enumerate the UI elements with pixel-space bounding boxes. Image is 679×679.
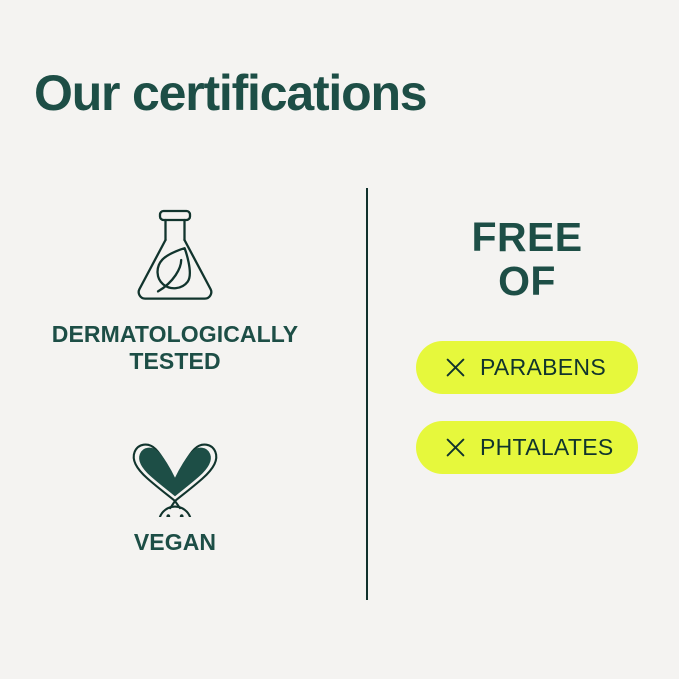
free-of-pill-parabens[interactable]: PARABENS [416,341,638,394]
certification-dermatologically-tested: DERMATOLOGICALLY TESTED [20,205,330,375]
certifications-left-column: DERMATOLOGICALLY TESTED [20,185,330,605]
vertical-divider [366,188,368,600]
free-of-heading: FREE OF [472,215,583,303]
certifications-panel: Our certifications [0,0,679,679]
certifications-right-column: FREE OF PARABENS [392,185,662,605]
page-title: Our certifications [34,62,426,124]
free-of-line-2: OF [472,259,583,303]
flask-leaf-icon [127,205,223,305]
x-icon [445,357,466,378]
free-of-pill-phtalates[interactable]: PHTALATES [416,421,638,474]
rabbit-heart-icon [125,417,225,517]
certifications-columns: DERMATOLOGICALLY TESTED [0,185,679,605]
free-of-pill-label: PARABENS [480,356,606,379]
certification-vegan: VEGAN [20,417,330,556]
certification-label: DERMATOLOGICALLY TESTED [25,321,325,375]
free-of-list: PARABENS PHTALATES [392,341,662,474]
free-of-line-1: FREE [472,215,583,259]
certification-label: VEGAN [134,529,216,556]
free-of-pill-label: PHTALATES [480,436,614,459]
x-icon [445,437,466,458]
